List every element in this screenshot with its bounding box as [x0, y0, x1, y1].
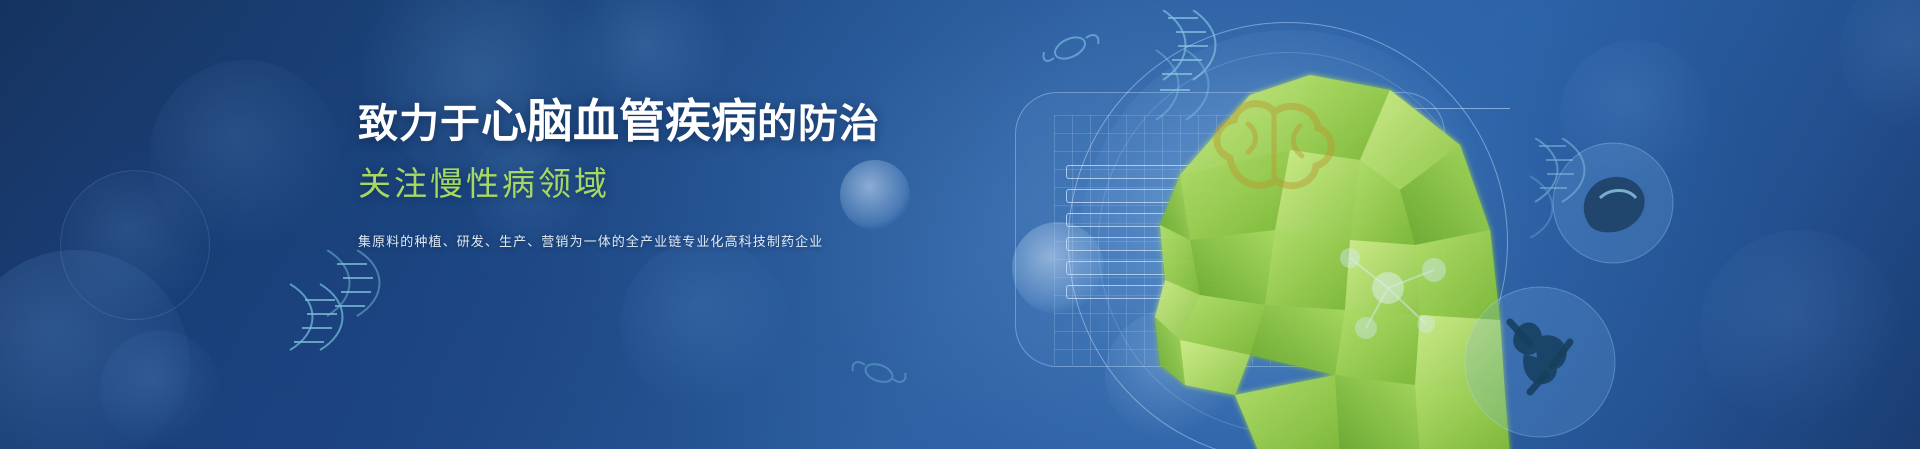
- hud-bar: [1066, 213, 1218, 227]
- headline-part-1: 致力于: [358, 102, 481, 146]
- hero-banner: 致力于心脑血管疾病的防治 关注慢性病领域 集原料的种植、研发、生产、营销为一体的…: [0, 0, 1920, 449]
- virus-cell-icon: [1460, 282, 1620, 442]
- hud-connector-line: [1392, 108, 1510, 109]
- hud-bar: [1066, 261, 1218, 275]
- hero-subheadline: 关注慢性病领域: [358, 157, 878, 205]
- bokeh-circle: [60, 170, 210, 320]
- bokeh-circle: [150, 60, 340, 250]
- bokeh-circle: [1840, 0, 1920, 130]
- bokeh-circle: [1700, 230, 1900, 430]
- page-title: 致力于心脑血管疾病的防治: [358, 96, 878, 148]
- headline-part-2-emphasis: 心脑血管疾病: [481, 95, 757, 147]
- bokeh-circle: [620, 240, 790, 410]
- bokeh-circle: [100, 330, 220, 449]
- virus-cell-icon: [1548, 138, 1678, 268]
- hud-bar: [1066, 189, 1218, 203]
- dna-helix-icon: [275, 250, 405, 360]
- hud-bar: [1066, 285, 1218, 299]
- bokeh-circle: [0, 250, 190, 449]
- dna-helix-icon: [1520, 138, 1590, 238]
- hero-copy: 致力于心脑血管疾病的防治 关注慢性病领域 集原料的种植、研发、生产、营销为一体的…: [358, 96, 878, 250]
- hud-bar-list: [1066, 165, 1218, 309]
- bacteria-icon: [1040, 18, 1110, 78]
- headline-part-3: 的防治: [757, 102, 880, 146]
- hud-bar: [1066, 165, 1218, 179]
- hud-bar: [1066, 237, 1218, 251]
- hero-tagline: 集原料的种植、研发、生产、营销为一体的全产业链专业化高科技制药企业: [358, 231, 878, 250]
- bacteria-icon: [845, 345, 915, 405]
- hud-panel: [1015, 92, 1445, 367]
- bokeh-circle: [1560, 40, 1710, 190]
